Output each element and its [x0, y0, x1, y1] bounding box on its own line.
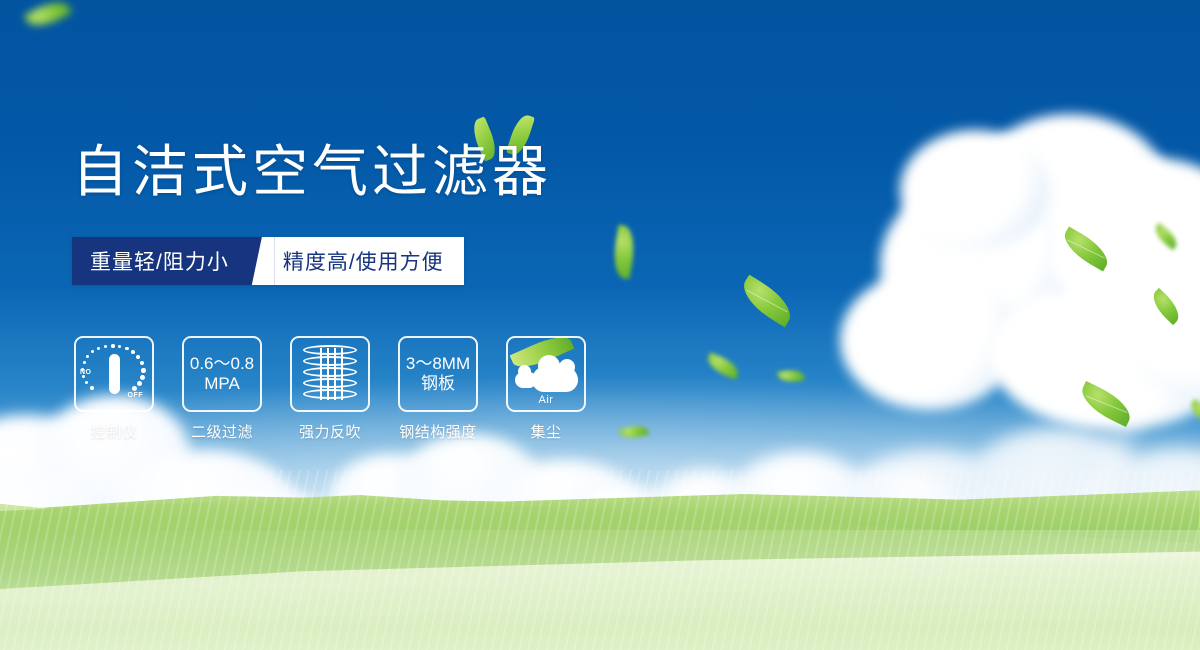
feature-item-dust[interactable]: Air 集尘 [506, 336, 586, 442]
pressure-value: 0.6～0.8 [190, 354, 254, 374]
steel-thickness: 3～8MM [406, 354, 470, 374]
steel-plate-icon: 3～8MM 钢板 [406, 354, 470, 394]
leaf-icon [1058, 226, 1114, 271]
feature-item-backwash[interactable]: 强力反吹 [290, 336, 370, 442]
steel-material: 钢板 [406, 374, 470, 394]
feature-label: 控制仪 [91, 421, 138, 442]
product-banner: 自洁式空气过滤器 重量轻/阻力小 精度高/使用方便 [0, 0, 1200, 650]
air-cloud-icon: Air [513, 344, 579, 404]
cloud-right-large [840, 110, 1200, 440]
feature-icon-box: NO OFF [74, 336, 154, 412]
cloud-main-shape [532, 366, 578, 392]
air-label: Air [513, 394, 579, 406]
pressure-unit: MPA [190, 374, 254, 394]
feature-label: 强力反吹 [299, 421, 361, 442]
feature-icon-box: Air [506, 336, 586, 412]
feature-list: NO OFF 控制仪 0.6～0.8 MPA 二级过滤 [74, 336, 586, 442]
gauge-label-no: NO [80, 369, 92, 376]
subtitle-divider [251, 237, 275, 285]
feature-item-pressure[interactable]: 0.6～0.8 MPA 二级过滤 [182, 336, 262, 442]
feature-item-steel[interactable]: 3～8MM 钢板 钢结构强度 [398, 336, 478, 442]
feature-label: 钢结构强度 [399, 421, 477, 442]
leaf-icon [777, 368, 804, 384]
subtitle-right: 精度高/使用方便 [275, 237, 464, 285]
feature-item-controller[interactable]: NO OFF 控制仪 [74, 336, 154, 442]
gauge-icon: NO OFF [81, 343, 147, 405]
leaf-icon [1147, 288, 1185, 325]
leaf-icon [24, 0, 72, 33]
leaf-icon [1151, 223, 1181, 250]
feature-icon-box: 0.6～0.8 MPA [182, 336, 262, 412]
leaf-icon [1187, 399, 1200, 427]
leaf-icon [704, 352, 742, 380]
pressure-icon: 0.6～0.8 MPA [190, 354, 254, 394]
filter-stack-icon [303, 345, 357, 403]
subtitle-bar: 重量轻/阻力小 精度高/使用方便 [72, 237, 464, 285]
page-title: 自洁式空气过滤器 [72, 144, 552, 200]
leaf-icon [1076, 381, 1137, 427]
leaf-icon [736, 275, 799, 328]
subtitle-left: 重量轻/阻力小 [72, 237, 251, 285]
feature-label: 集尘 [530, 421, 561, 442]
feature-icon-box: 3～8MM 钢板 [398, 336, 478, 412]
feature-label: 二级过滤 [191, 421, 253, 442]
gauge-label-off: OFF [128, 392, 144, 399]
feature-icon-box [290, 336, 370, 412]
leaf-icon [619, 423, 649, 441]
gauge-needle [109, 354, 120, 394]
leaf-icon [610, 225, 639, 280]
